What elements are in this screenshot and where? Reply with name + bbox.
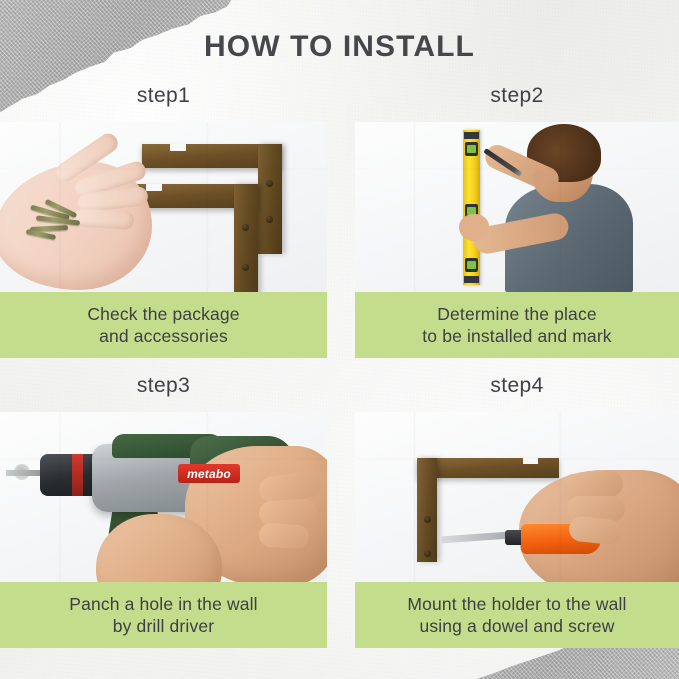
step-label-2: step2 — [355, 84, 679, 108]
metabo-brand-logo: metabo — [178, 464, 240, 483]
step-caption-4: Mount the holder to the wall using a dow… — [355, 582, 679, 648]
caption-line-1: Panch a hole in the wall — [69, 593, 257, 615]
caption-line-1: Determine the place — [437, 303, 596, 325]
step-card-3: step3 metabo Panch a hole in the wall — [0, 374, 327, 648]
caption-line-2: using a dowel and screw — [419, 615, 614, 637]
step-card-4: step4 Mount the holder to the wall — [355, 374, 679, 648]
person-ear — [533, 170, 546, 187]
step-photo-2 — [355, 122, 679, 292]
step-label-1: step1 — [0, 84, 327, 108]
how-to-install-infographic: HOW TO INSTALL step1 — [0, 0, 679, 679]
step-caption-2: Determine the place to be installed and … — [355, 292, 679, 358]
step-label-4: step4 — [355, 374, 679, 398]
drill-chuck-ring — [72, 454, 83, 496]
caption-line-2: by drill driver — [113, 615, 214, 637]
step-caption-3: Panch a hole in the wall by drill driver — [0, 582, 327, 648]
step-photo-4 — [355, 412, 679, 582]
step-caption-1: Check the package and accessories — [0, 292, 327, 358]
steps-grid: step1 — [0, 84, 679, 664]
spirit-level-icon — [463, 130, 480, 285]
step-card-1: step1 — [0, 84, 327, 358]
page-title: HOW TO INSTALL — [0, 30, 679, 64]
step-photo-3: metabo — [0, 412, 327, 582]
step-card-2: step2 Determine the place — [355, 84, 679, 358]
person-hand — [459, 214, 489, 241]
step-label-3: step3 — [0, 374, 327, 398]
caption-line-1: Check the package — [87, 303, 239, 325]
step-photo-1 — [0, 122, 327, 292]
finger — [258, 498, 317, 526]
finger — [258, 523, 309, 550]
caption-line-2: and accessories — [99, 325, 228, 347]
caption-line-1: Mount the holder to the wall — [407, 593, 626, 615]
caption-line-2: to be installed and mark — [422, 325, 611, 347]
